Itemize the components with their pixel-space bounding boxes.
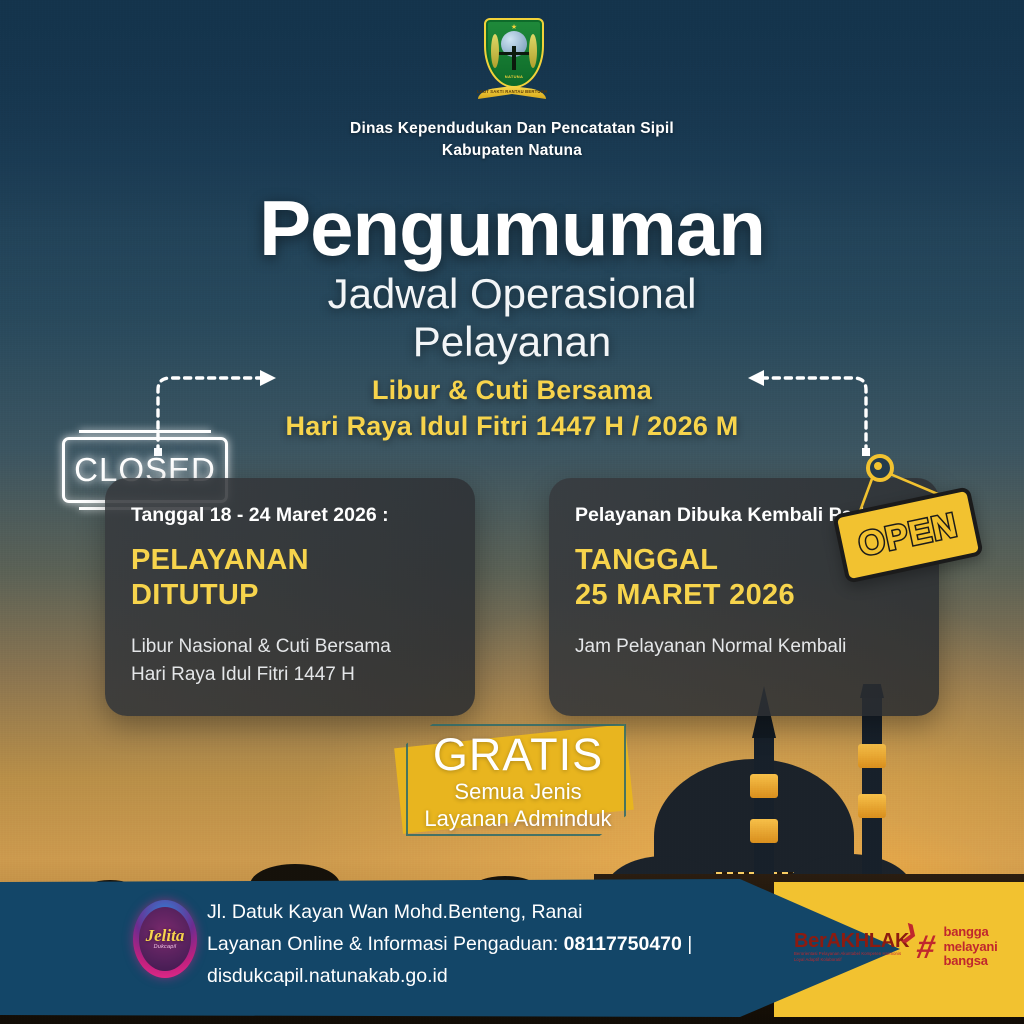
emblem-ribbon: LAUT SAKTI RANTAU BERTUAH [474, 84, 550, 106]
closed-card-status-line-1: PELAYANAN [131, 543, 475, 578]
bangga-line-1: bangga [943, 925, 997, 940]
subtitle-line-2: Pelayanan [0, 318, 1024, 366]
berakhlak-text-block: BerAKHLAK ❯ Berorientasi Pelayanan Akunt… [794, 931, 909, 963]
ribbon-motto: LAUT SAKTI RANTAU BERTUAH [474, 89, 550, 94]
org-line-2: Kabupaten Natuna [0, 140, 1024, 162]
jelita-logo[interactable]: Jelita Dukcapil [133, 900, 197, 978]
regency-shield: ★ NATUNA [484, 18, 544, 88]
jelita-logo-name: Jelita [146, 928, 185, 944]
footer-phone[interactable]: 08117750470 [564, 933, 682, 955]
page-title: Pengumuman [0, 186, 1024, 270]
footer-contact-block: Jl. Datuk Kayan Wan Mohd.Benteng, Ranai … [207, 896, 692, 992]
gratis-text-group: GRATIS Semua Jenis Layanan Adminduk [398, 732, 638, 832]
footer-separator: | [682, 933, 692, 955]
berakhlak-logo: BerAKHLAK ❯ Berorientasi Pelayanan Akunt… [794, 917, 1010, 977]
bangga-line-2: melayani [943, 940, 997, 955]
open-card-note: Jam Pelayanan Normal Kembali [575, 633, 939, 661]
open-badge-ring-icon [866, 454, 894, 482]
gratis-banner: GRATIS Semua Jenis Layanan Adminduk [398, 718, 638, 838]
berakhlak-title: BerAKHLAK [794, 931, 909, 951]
shield-padi-left [491, 34, 499, 68]
shield-label: NATUNA [486, 74, 542, 79]
org-line-1: Dinas Kependudukan Dan Pencatatan Sipil [0, 118, 1024, 140]
berakhlak-values: Berorientasi Pelayanan Akuntabel Kompete… [794, 951, 902, 963]
open-badge-label: OPEN [855, 505, 961, 564]
page-subtitle: Jadwal Operasional Pelayanan [0, 270, 1024, 366]
closed-card-note: Libur Nasional & Cuti Bersama Hari Raya … [131, 633, 475, 689]
closed-card-note-line-1: Libur Nasional & Cuti Bersama [131, 633, 475, 661]
dashed-arrow-right [739, 366, 874, 458]
closed-card-heading: Tanggal 18 - 24 Maret 2026 : [131, 504, 475, 527]
closed-card-status: PELAYANAN DITUTUP [131, 543, 475, 613]
gratis-title: GRATIS [398, 732, 638, 778]
subtitle-line-1: Jadwal Operasional [328, 270, 697, 317]
shield-wing-left [498, 52, 512, 55]
shield-padi-right [529, 34, 537, 68]
hash-icon: # [914, 932, 938, 962]
footer-website[interactable]: disdukcapil.natunakab.go.id [207, 960, 692, 992]
organization-name: Dinas Kependudukan Dan Pencatatan Sipil … [0, 118, 1024, 162]
footer-service-label: Layanan Online & Informasi Pengaduan: [207, 933, 564, 955]
jelita-logo-inner: Jelita Dukcapil [139, 907, 191, 971]
announcement-poster: ★ NATUNA LAUT SAKTI RANTAU BERTUAH Dinas… [0, 0, 1024, 1024]
gratis-line-1: Semua Jenis [398, 778, 638, 805]
shield-tower-icon [512, 46, 516, 70]
closed-card-status-line-2: DITUTUP [131, 578, 475, 613]
open-badge: OPEN [820, 452, 990, 582]
bangga-melayani-bangsa: bangga melayani bangsa [943, 925, 997, 969]
shield-star-icon: ★ [511, 24, 517, 31]
footer-bar: Jelita Dukcapil Jl. Datuk Kayan Wan Mohd… [0, 879, 1024, 1024]
closed-card-note-line-2: Hari Raya Idul Fitri 1447 H [131, 661, 475, 689]
footer-address: Jl. Datuk Kayan Wan Mohd.Benteng, Ranai [207, 896, 692, 928]
footer-service-line: Layanan Online & Informasi Pengaduan: 08… [207, 928, 692, 960]
emblem-container: ★ NATUNA LAUT SAKTI RANTAU BERTUAH [474, 14, 550, 106]
closed-info-card: Tanggal 18 - 24 Maret 2026 : PELAYANAN D… [105, 478, 475, 716]
jelita-logo-sub: Dukcapil [154, 944, 177, 950]
shield-wing-right [516, 52, 530, 55]
open-card-date-line-2: 25 MARET 2026 [575, 578, 939, 613]
gratis-line-2: Layanan Adminduk [398, 805, 638, 832]
bangga-line-3: bangsa [943, 954, 997, 969]
